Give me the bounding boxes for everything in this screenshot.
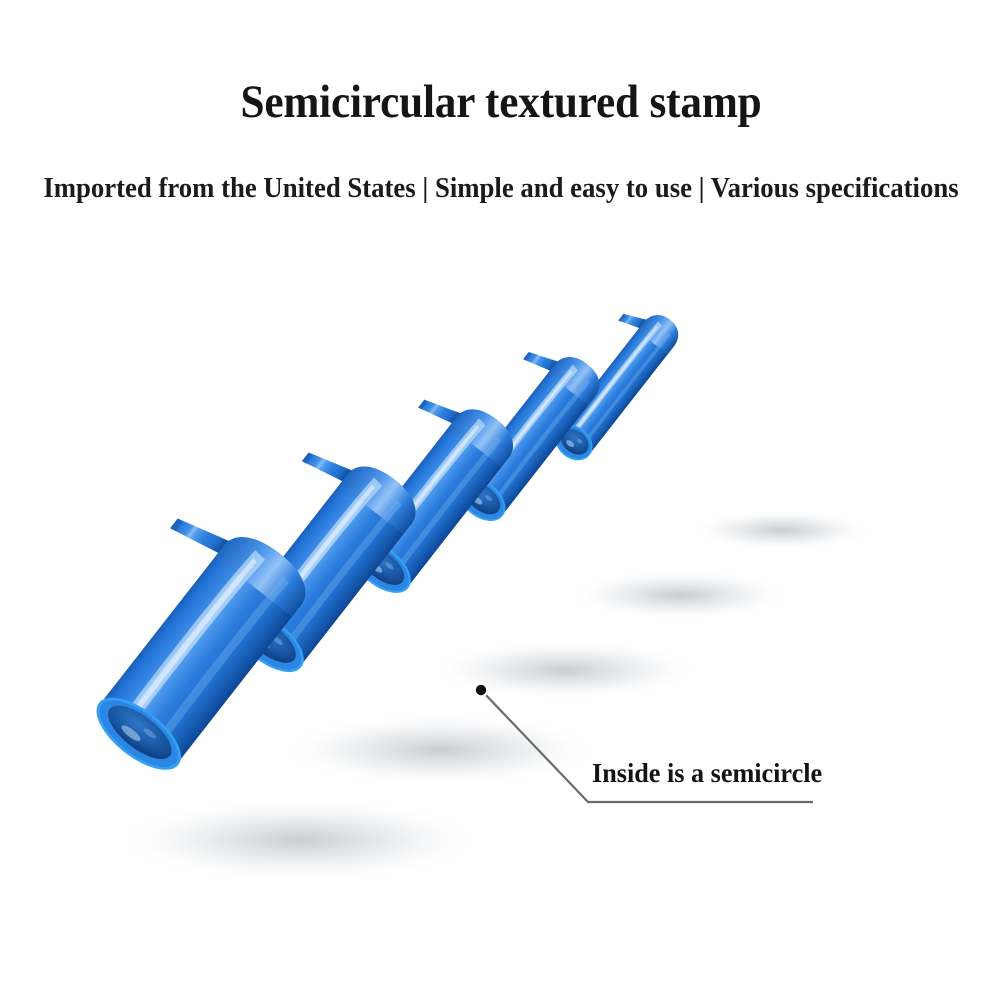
callout-label: Inside is a semicircle bbox=[592, 757, 822, 789]
page-title: Semicircular textured stamp bbox=[40, 74, 962, 130]
product-illustration bbox=[0, 250, 1002, 910]
page-subtitle: Imported from the United States | Simple… bbox=[23, 172, 980, 206]
product-photo bbox=[0, 250, 1002, 910]
product-image-canvas: Semicircular textured stamp Imported fro… bbox=[0, 0, 1002, 1002]
